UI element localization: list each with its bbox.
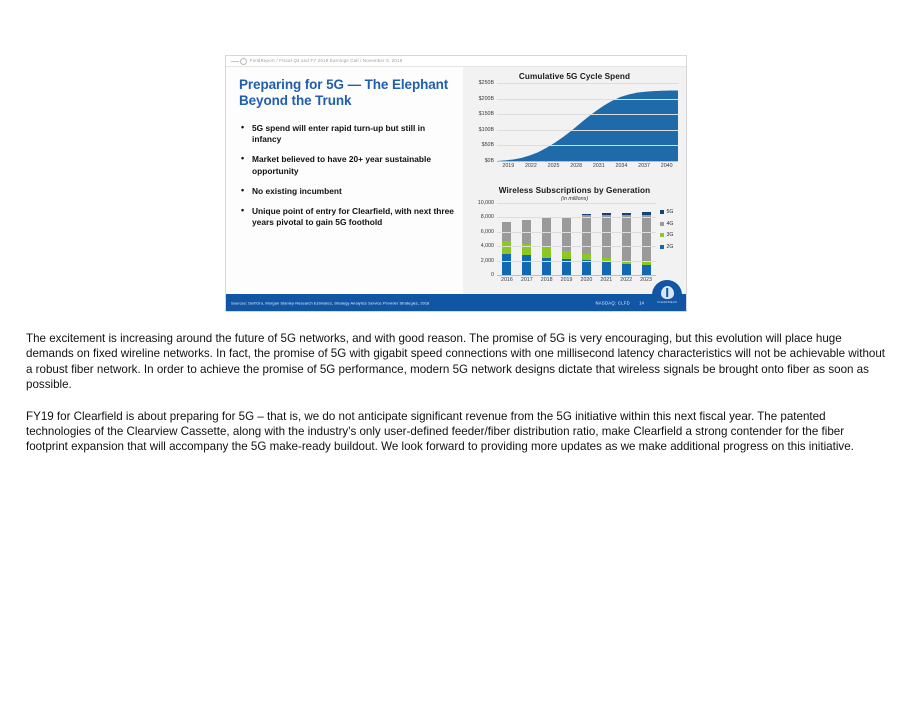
gridline (497, 83, 678, 84)
slide-content: Preparing for 5G — The Elephant Beyond t… (226, 67, 686, 294)
bar-column (642, 203, 651, 275)
x-axis-tick-label: 2017 (517, 277, 537, 283)
slide-title: Preparing for 5G — The Elephant Beyond t… (239, 77, 455, 109)
y-axis-tick-label: $50B (482, 142, 494, 148)
gridline (497, 217, 656, 218)
x-axis-tick-label: 2040 (655, 163, 678, 169)
bullet-item: Market believed to have 20+ year sustain… (239, 154, 455, 176)
y-axis-tick-label: 4,000 (481, 243, 494, 249)
slide-right-panel: Cumulative 5G Cycle Spend $0B$50B$100B$1… (463, 67, 686, 294)
legend-item-3g: 3G (660, 232, 684, 238)
bar-column (582, 203, 591, 275)
bar-segment-4g (602, 215, 611, 258)
bar-segment-2g (602, 262, 611, 275)
x-axis-tick-label: 2018 (537, 277, 557, 283)
x-axis-tick-label: 2031 (588, 163, 611, 169)
bar-segment-2g (582, 260, 591, 275)
x-axis-tick-label: 2022 (616, 277, 636, 283)
slide-bullet-list: 5G spend will enter rapid turn-up but st… (239, 123, 455, 228)
y-axis-tick-label: $250B (479, 80, 494, 86)
bar-segment-2g (522, 255, 531, 275)
bar-column (622, 203, 631, 275)
bar-segment-2g (502, 254, 511, 275)
bar-column (562, 203, 571, 275)
gridline (497, 130, 678, 131)
x-axis-line (497, 275, 656, 276)
gridline (497, 99, 678, 100)
gridline (497, 261, 656, 262)
bar-segment-4g (642, 215, 651, 262)
clearfield-logo-text: CLEARFIELD (657, 300, 677, 304)
y-axis-tick-label: 6,000 (481, 229, 494, 235)
footer-sources: Sources: Dell'Oro, Morgan Stanley Resear… (231, 300, 429, 305)
bar-segment-3g (502, 241, 511, 254)
legend-item-2g: 2G (660, 244, 684, 250)
y-axis-tick-label: 2,000 (481, 258, 494, 264)
legend-label: 5G (667, 209, 674, 215)
bar-segment-2g (622, 264, 631, 275)
x-axis-tick-label: 2019 (557, 277, 577, 283)
x-axis-tick-label: 2037 (633, 163, 656, 169)
legend-label: 4G (667, 221, 674, 227)
gridline (497, 145, 678, 146)
bar-segment-4g (622, 215, 631, 261)
slide-footer: Sources: Dell'Oro, Morgan Stanley Resear… (226, 294, 686, 311)
x-axis-tick-label: 2025 (542, 163, 565, 169)
x-axis-tick-label: 2028 (565, 163, 588, 169)
bar-column (542, 203, 551, 275)
slide-breadcrumb-bar: FieldReport / Fiscal Q4 and FY 2018 Earn… (226, 56, 686, 67)
clearfield-shell-icon (661, 286, 674, 299)
gridline (497, 114, 678, 115)
area-plot-area (497, 83, 678, 161)
chart-title: Wireless Subscriptions by Generation (463, 186, 686, 196)
y-axis-labels: 02,0004,0006,0008,00010,000 (463, 203, 497, 275)
legend-swatch-icon (660, 222, 664, 226)
bullet-item: Unique point of entry for Clearfield, wi… (239, 206, 455, 228)
article-body: The excitement is increasing around the … (26, 331, 888, 471)
bar-segment-3g (542, 247, 551, 258)
x-axis-tick-label: 2022 (520, 163, 543, 169)
legend-item-4g: 4G (660, 221, 684, 227)
x-axis-labels: 20192022202520282031203420372040 (497, 163, 678, 169)
bar-segment-2g (642, 265, 651, 275)
chart-subtitle: (in millions) (463, 196, 686, 203)
chart-legend: 5G4G3G2G (660, 209, 684, 255)
bar-series-group (497, 203, 656, 275)
bar-column (522, 203, 531, 275)
bullet-item: 5G spend will enter rapid turn-up but st… (239, 123, 455, 145)
footer-ticker: NASDAQ: CLFD (595, 300, 630, 305)
gridline (497, 246, 656, 247)
area-series-5g-spend (497, 83, 678, 161)
bar-segment-4g (582, 215, 591, 254)
legend-swatch-icon (660, 233, 664, 237)
legend-label: 3G (667, 232, 674, 238)
x-axis-line (497, 161, 678, 162)
cumulative-5g-cycle-spend-chart: Cumulative 5G Cycle Spend $0B$50B$100B$1… (463, 69, 686, 181)
x-axis-tick-label: 2023 (636, 277, 656, 283)
breadcrumb-dot-icon (240, 58, 247, 65)
x-axis-tick-label: 2020 (577, 277, 597, 283)
legend-swatch-icon (660, 210, 664, 214)
breadcrumb: FieldReport / Fiscal Q4 and FY 2018 Earn… (250, 58, 402, 64)
chart-title: Cumulative 5G Cycle Spend (463, 72, 686, 82)
gridline (497, 203, 656, 204)
bar-column (502, 203, 511, 275)
y-axis-tick-label: $0B (485, 158, 494, 164)
gridline (497, 232, 656, 233)
legend-label: 2G (667, 244, 674, 250)
slide-page-number: 14 (639, 300, 644, 305)
x-axis-tick-label: 2021 (596, 277, 616, 283)
x-axis-tick-label: 2016 (497, 277, 517, 283)
clearfield-logo: CLEARFIELD (652, 280, 682, 310)
article-paragraph: FY19 for Clearfield is about preparing f… (26, 409, 888, 455)
article-paragraph: The excitement is increasing around the … (26, 331, 888, 393)
y-axis-tick-label: 0 (491, 272, 494, 278)
y-axis-tick-label: $100B (479, 127, 494, 133)
x-axis-tick-label: 2034 (610, 163, 633, 169)
y-axis-tick-label: $150B (479, 111, 494, 117)
bar-plot-area (497, 203, 656, 275)
bar-segment-3g (562, 251, 571, 259)
bullet-item: No existing incumbent (239, 186, 455, 197)
legend-swatch-icon (660, 245, 664, 249)
slide-left-panel: Preparing for 5G — The Elephant Beyond t… (226, 67, 463, 294)
x-axis-labels: 20162017201820192020202120222023 (497, 277, 656, 283)
y-axis-tick-label: $200B (479, 96, 494, 102)
y-axis-tick-label: 10,000 (478, 200, 494, 206)
presentation-slide: FieldReport / Fiscal Q4 and FY 2018 Earn… (225, 55, 687, 312)
legend-item-5g: 5G (660, 209, 684, 215)
y-axis-labels: $0B$50B$100B$150B$200B$250B (463, 83, 497, 161)
breadcrumb-dash-icon (231, 61, 239, 62)
y-axis-tick-label: 8,000 (481, 214, 494, 220)
bar-column (602, 203, 611, 275)
x-axis-tick-label: 2019 (497, 163, 520, 169)
